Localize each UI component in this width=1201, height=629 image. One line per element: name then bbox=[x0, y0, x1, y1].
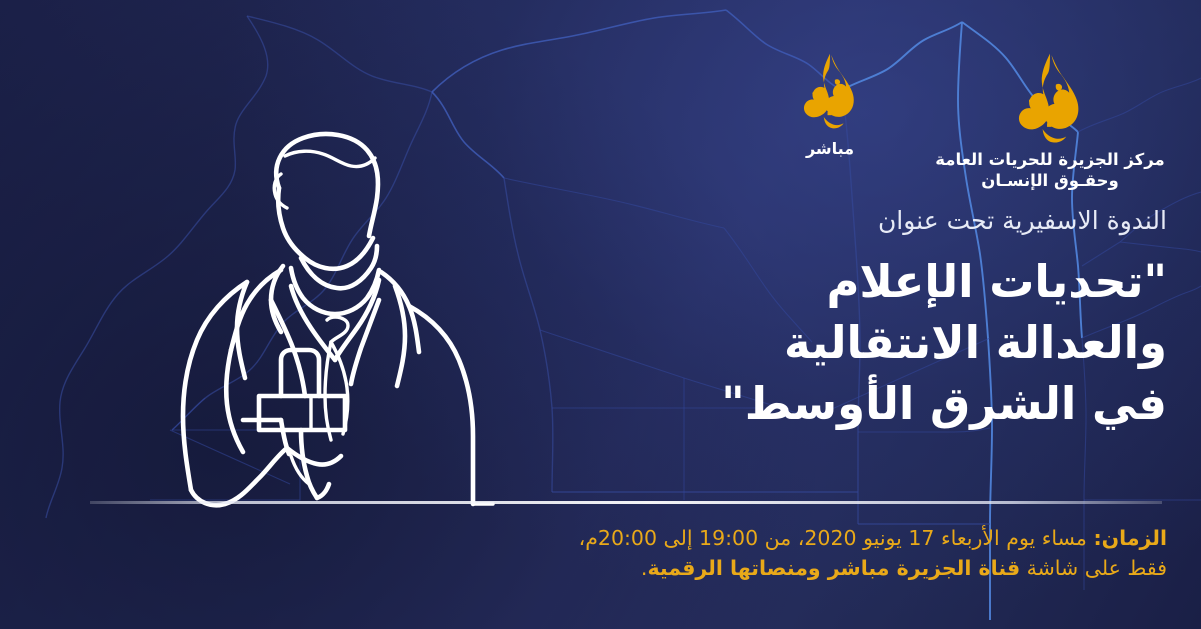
footer-channel-prefix: فقط على شاشة bbox=[1020, 556, 1167, 580]
logo-caption-center-line2: وحقـوق الإنسـان bbox=[935, 171, 1164, 192]
page-title: "تحديات الإعلام والعدالة الانتقالية في ا… bbox=[407, 251, 1167, 435]
al-jazeera-flame-logo bbox=[1013, 52, 1087, 144]
title-line-1: "تحديات الإعلام bbox=[407, 251, 1167, 312]
horizontal-divider bbox=[90, 501, 1162, 504]
logo-block-center: مركز الجزيرة للحريات العامة وحقـوق الإنس… bbox=[915, 52, 1185, 192]
footer-line-channel: فقط على شاشة قناة الجزيرة مباشر ومنصاتها… bbox=[377, 553, 1167, 583]
al-jazeera-flame-logo bbox=[799, 52, 861, 130]
event-banner: مركز الجزيرة للحريات العامة وحقـوق الإنس… bbox=[0, 0, 1201, 629]
headline-block: الندوة الاسفيرية تحت عنوان "تحديات الإعل… bbox=[407, 206, 1167, 434]
footer-line-schedule: الزمان: مساء يوم الأربعاء 17 يونيو 2020،… bbox=[377, 523, 1167, 553]
logo-caption-live: مباشر bbox=[806, 139, 854, 159]
title-line-2: والعدالة الانتقالية bbox=[407, 312, 1167, 373]
logo-block-live: مباشر bbox=[775, 52, 885, 159]
logo-row: مركز الجزيرة للحريات العامة وحقـوق الإنس… bbox=[775, 52, 1185, 192]
footer-schedule-label: الزمان: bbox=[1093, 526, 1167, 550]
logo-caption-center-line1: مركز الجزيرة للحريات العامة bbox=[935, 150, 1164, 171]
footer-block: الزمان: مساء يوم الأربعاء 17 يونيو 2020،… bbox=[377, 523, 1167, 584]
footer-channel-name: قناة الجزيرة مباشر ومنصاتها الرقمية bbox=[647, 556, 1020, 580]
kicker-text: الندوة الاسفيرية تحت عنوان bbox=[407, 206, 1167, 237]
title-line-3: في الشرق الأوسط" bbox=[407, 373, 1167, 434]
footer-schedule-value: مساء يوم الأربعاء 17 يونيو 2020، من 19:0… bbox=[579, 526, 1094, 550]
logo-caption-center: مركز الجزيرة للحريات العامة وحقـوق الإنس… bbox=[935, 150, 1164, 192]
